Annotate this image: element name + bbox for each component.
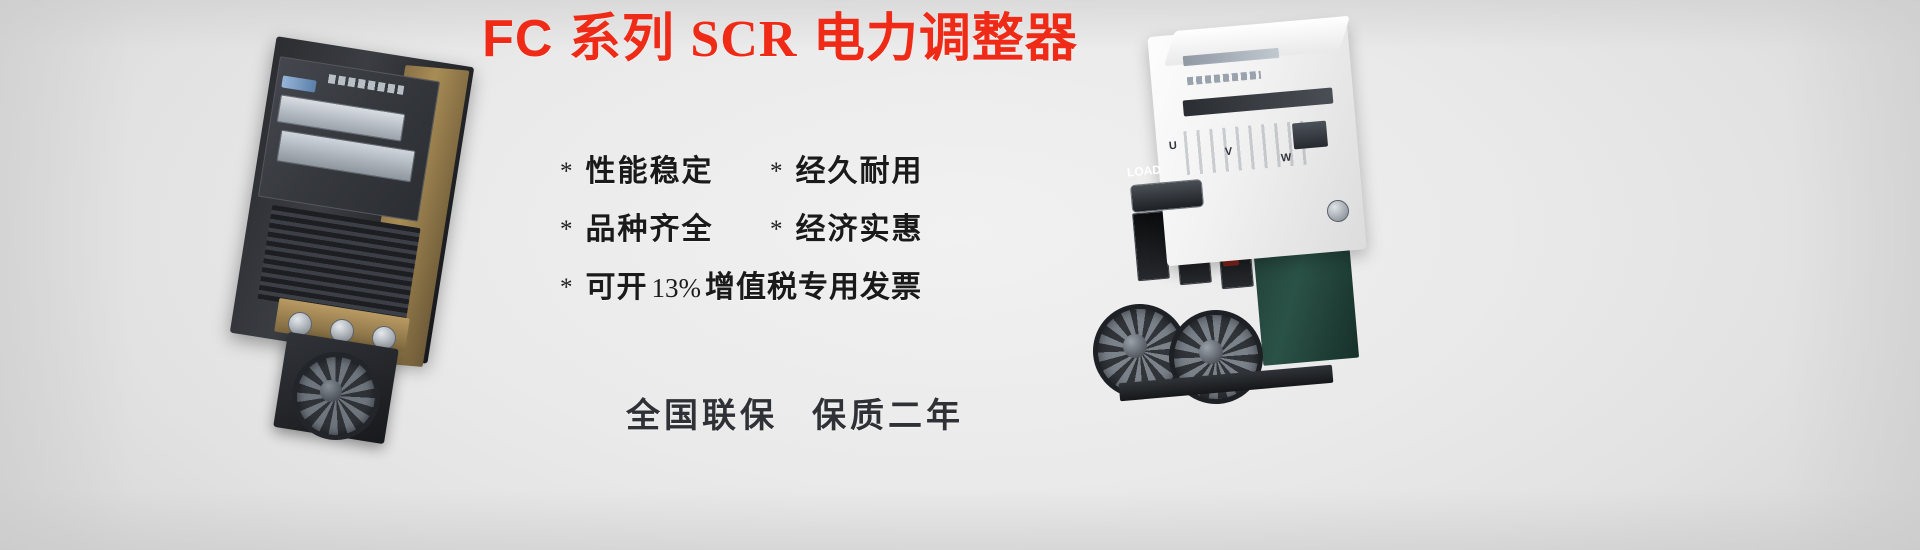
feature-item: * 经久耐用	[770, 146, 924, 190]
feature-label: 性能稳定	[586, 146, 714, 190]
right-unit-phase-label-v: V	[1224, 146, 1232, 159]
feature-item: * 品种齐全	[560, 204, 770, 248]
feature-row: * 品种齐全 * 经济实惠	[560, 204, 1030, 262]
feature-label: 经济实惠	[796, 204, 924, 248]
feature-item: * 可开 13% 增值税专用发票	[560, 262, 922, 306]
product-image-right: U V W LOAD	[1065, 22, 1395, 442]
warranty-tagline: 全国联保保质二年	[560, 388, 1030, 437]
feature-list: * 性能稳定 * 经久耐用 * 品种齐全 * 经济实惠 * 可开 13%	[560, 146, 1030, 320]
bullet-star-icon: *	[560, 275, 573, 300]
feature-label: 品种齐全	[586, 204, 714, 248]
bullet-star-icon: *	[560, 159, 573, 184]
feature-item: * 性能稳定	[560, 146, 770, 190]
feature-row: * 性能稳定 * 经久耐用	[560, 146, 1030, 204]
promo-banner: U V W LOAD FC 系列 SCR 电力调整器 * 性能稳定 * 经久耐用	[0, 0, 1920, 550]
right-unit-led-block	[1292, 121, 1328, 150]
right-unit-phase-label-u: U	[1168, 140, 1177, 153]
banner-title: FC 系列 SCR 电力调整器	[0, 8, 1560, 71]
bullet-star-icon: *	[770, 159, 783, 184]
title-part-fc: FC	[482, 10, 553, 68]
invoice-tax-rate: 13%	[648, 273, 706, 304]
feature-row-invoice: * 可开 13% 增值税专用发票	[560, 262, 1030, 320]
title-part-scr: SCR	[690, 11, 797, 68]
title-part-series: 系列	[569, 9, 675, 69]
right-unit-phase-label-w: W	[1280, 152, 1291, 165]
invoice-prefix: 可开	[586, 262, 648, 306]
product-image-left	[232, 40, 512, 430]
tagline-right: 保质二年	[812, 396, 964, 436]
feature-item: * 经济实惠	[770, 204, 924, 248]
title-part-product: 电力调整器	[813, 9, 1078, 69]
right-unit-load-label: LOAD	[1126, 163, 1161, 180]
feature-label: 经久耐用	[796, 146, 924, 190]
bullet-star-icon: *	[560, 217, 573, 242]
invoice-suffix: 增值税专用发票	[705, 262, 922, 306]
tagline-left: 全国联保	[626, 396, 778, 436]
bullet-star-icon: *	[770, 217, 783, 242]
